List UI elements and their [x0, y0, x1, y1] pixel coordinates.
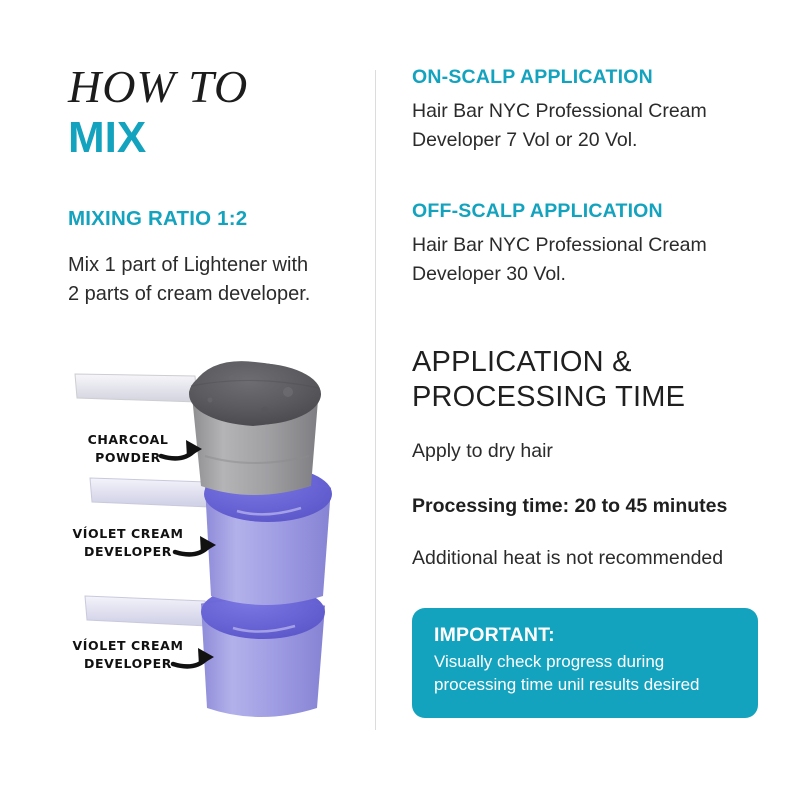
application-heading-line-1: APPLICATION & — [412, 345, 762, 380]
important-heading: IMPORTANT: — [434, 624, 738, 647]
page-title-mix: MIX — [68, 114, 368, 162]
infographic-page: HOW TO MIX MIXING RATIO 1:2 Mix 1 part o… — [0, 0, 800, 800]
mixing-ratio-line-2: 2 parts of cream developer. — [68, 280, 368, 309]
svg-text:DEVELOPER: DEVELOPER — [84, 544, 172, 559]
left-column-header: HOW TO MIX — [68, 62, 368, 162]
important-callout-box: IMPORTANT: Visually check progress durin… — [412, 608, 758, 718]
off-scalp-block: OFF-SCALP APPLICATION Hair Bar NYC Profe… — [412, 200, 762, 289]
violet-scoop-1-label: VÍOLET CREAM DEVELOPER — [73, 526, 216, 559]
on-scalp-body: Hair Bar NYC Professional Cream Develope… — [412, 97, 762, 155]
on-scalp-line-1: Hair Bar NYC Professional Cream — [412, 97, 762, 126]
charcoal-scoop — [75, 361, 321, 495]
on-scalp-heading: ON-SCALP APPLICATION — [412, 66, 762, 89]
application-processing-heading: APPLICATION & PROCESSING TIME — [412, 345, 762, 415]
important-body: Visually check progress during processin… — [434, 650, 738, 696]
page-title-how-to: HOW TO — [68, 62, 368, 112]
important-line-2: processing time unil results desired — [434, 673, 738, 696]
off-scalp-line-2: Developer 30 Vol. — [412, 260, 762, 289]
violet-scoop-2-label: VÍOLET CREAM DEVELOPER — [73, 638, 214, 671]
processing-time-text: Processing time: 20 to 45 minutes — [412, 495, 727, 518]
additional-heat-text: Additional heat is not recommended — [412, 547, 723, 570]
mixing-ratio-line-1: Mix 1 part of Lightener with — [68, 251, 368, 280]
scoops-illustration: CHARCOAL POWDER VÍOLET CREAM DEVELOPER V… — [55, 360, 375, 735]
on-scalp-block: ON-SCALP APPLICATION Hair Bar NYC Profes… — [412, 66, 762, 155]
charcoal-scoop-label: CHARCOAL POWDER — [88, 432, 202, 465]
off-scalp-line-1: Hair Bar NYC Professional Cream — [412, 231, 762, 260]
application-heading-line-2: PROCESSING TIME — [412, 380, 762, 415]
column-divider — [375, 70, 376, 730]
on-scalp-line-2: Developer 7 Vol or 20 Vol. — [412, 126, 762, 155]
apply-to-dry-hair-text: Apply to dry hair — [412, 440, 553, 463]
mixing-ratio-body: Mix 1 part of Lightener with 2 parts of … — [68, 251, 368, 309]
svg-text:POWDER: POWDER — [95, 450, 161, 465]
off-scalp-heading: OFF-SCALP APPLICATION — [412, 200, 762, 223]
svg-text:VÍOLET CREAM: VÍOLET CREAM — [73, 526, 184, 541]
off-scalp-body: Hair Bar NYC Professional Cream Develope… — [412, 231, 762, 289]
important-line-1: Visually check progress during — [434, 650, 738, 673]
svg-text:VÍOLET CREAM: VÍOLET CREAM — [73, 638, 184, 653]
mixing-ratio-heading: MIXING RATIO 1:2 — [68, 207, 247, 231]
svg-text:DEVELOPER: DEVELOPER — [84, 656, 172, 671]
svg-text:CHARCOAL: CHARCOAL — [88, 432, 169, 447]
